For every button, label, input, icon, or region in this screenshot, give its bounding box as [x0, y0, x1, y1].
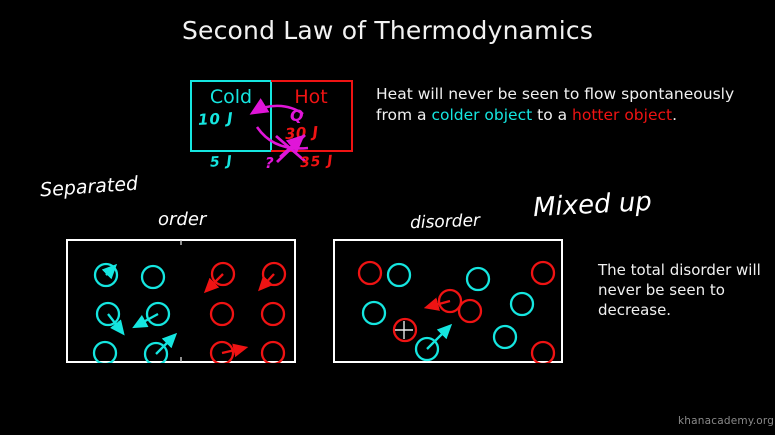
statement-line-2-c: . [672, 106, 677, 124]
watermark: khanacademy.org [678, 415, 774, 427]
label-order: order [158, 209, 206, 230]
statement-total-disorder: The total disorder will never be seen to… [598, 260, 773, 320]
label-mixed-up: Mixed up [532, 187, 652, 223]
statement-line-2-a: from a [376, 106, 431, 124]
statement-heat-flow: Heat will never be seen to flow spontane… [376, 84, 771, 126]
colder-object-phrase: colder object [431, 106, 532, 124]
label-separated: Separated [39, 173, 138, 202]
hotter-object-phrase: hotter object [572, 106, 672, 124]
mixed-particle-box [333, 239, 563, 363]
statement-line-2-b: to a [532, 106, 572, 124]
separated-particle-box [66, 239, 296, 363]
statement-line-1: Heat will never be seen to flow spontane… [376, 85, 734, 103]
page-title: Second Law of Thermodynamics [0, 16, 775, 45]
question-mark-label: ? [265, 154, 274, 172]
cold-total-value: 5 J [209, 153, 233, 171]
slide-canvas: Second Law of Thermodynamics Cold Hot 10… [0, 0, 775, 435]
label-disorder: disorder [410, 211, 481, 233]
thermo-diagram: Cold Hot 10 J Q 30 J 5 J ? 35 J [190, 80, 355, 152]
hot-total-value: 35 J [299, 153, 334, 171]
mixed-particles-diagram [333, 239, 563, 363]
separated-particles-diagram [66, 239, 296, 363]
